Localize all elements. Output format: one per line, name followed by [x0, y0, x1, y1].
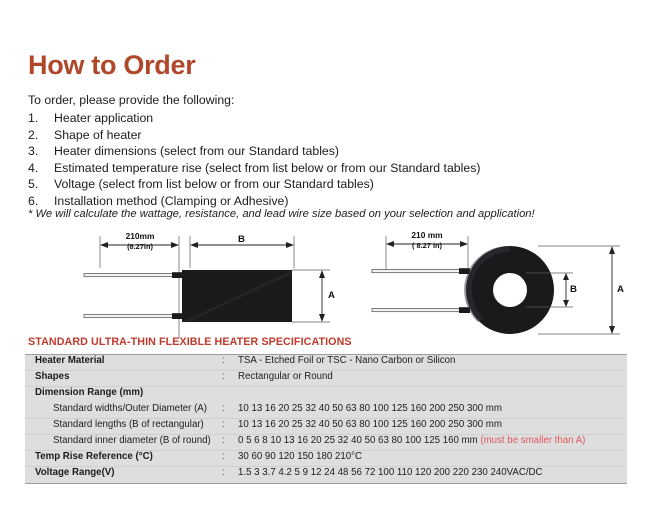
spec-row-value-text: Rectangular or Round: [238, 371, 333, 382]
order-step: 5.Voltage (select from list below or fro…: [28, 176, 628, 193]
spec-row-label: Shapes: [25, 371, 222, 382]
spec-row-value: 1.5 3 3.7 4.2 5 9 12 24 48 56 72 100 110…: [238, 467, 627, 478]
spec-row-value: 0 5 6 8 10 13 16 20 25 32 40 50 63 80 10…: [238, 435, 627, 446]
order-step: 3.Heater dimensions (select from our Sta…: [28, 143, 628, 160]
order-step-number: 1.: [28, 110, 54, 127]
order-step-text: Voltage (select from list below or from …: [54, 176, 374, 193]
spec-row: Standard lengths (B of rectangular):10 1…: [25, 419, 627, 435]
round-lead-length-mm: 210 mm: [411, 230, 442, 240]
spec-row-value-text: 1.5 3 3.7 4.2 5 9 12 24 48 56 72 100 110…: [238, 467, 543, 478]
round-lead-length-in: ( 8.27 in): [384, 241, 470, 251]
spec-row: Temp Rise Reference (°C):30 60 90 120 15…: [25, 451, 627, 467]
spec-row-colon: :: [222, 435, 238, 446]
spec-row: Voltage Range(V):1.5 3 3.7 4.2 5 9 12 24…: [25, 467, 627, 482]
figure-round-heater: 210 mm ( 8.27 in) B A: [358, 228, 643, 338]
figures-region: 210mm (8.27in) B A: [0, 228, 650, 338]
round-inner-diameter-letter: B: [570, 284, 577, 295]
order-step-text: Heater application: [54, 110, 153, 127]
order-step-number: 2.: [28, 127, 54, 144]
spec-row-value-text: 10 13 16 20 25 32 40 50 63 80 100 125 16…: [238, 419, 502, 430]
spec-row-note: (must be smaller than A): [480, 435, 585, 446]
spec-row: Standard inner diameter (B of round):0 5…: [25, 435, 627, 451]
spec-row-value: 30 60 90 120 150 180 210°C: [238, 451, 627, 462]
spec-row-value: TSA - Etched Foil or TSC - Nano Carbon o…: [238, 355, 627, 366]
rect-lead-length-mm: 210mm: [126, 231, 155, 241]
rect-width-letter: B: [238, 234, 245, 245]
spec-row-label: Heater Material: [25, 355, 222, 366]
spec-row-label: Standard inner diameter (B of round): [25, 435, 222, 446]
spec-row-value-text: 0 5 6 8 10 13 16 20 25 32 40 50 63 80 10…: [238, 435, 480, 446]
spec-row-label: Dimension Range (mm): [25, 387, 222, 398]
spec-row-colon: :: [222, 355, 238, 366]
spec-table: Heater Material:TSA - Etched Foil or TSC…: [25, 354, 627, 484]
order-step-text: Heater dimensions (select from our Stand…: [54, 143, 339, 160]
heater-inner-hole: [493, 273, 527, 307]
spec-row-colon: :: [222, 451, 238, 462]
order-step-text: Estimated temperature rise (select from …: [54, 160, 480, 177]
order-step-number: 4.: [28, 160, 54, 177]
spec-row: Heater Material:TSA - Etched Foil or TSC…: [25, 355, 627, 371]
spec-row-colon: :: [222, 467, 238, 478]
order-step-text: Shape of heater: [54, 127, 142, 144]
spec-row: Shapes:Rectangular or Round: [25, 371, 627, 387]
footnote: * We will calculate the wattage, resista…: [28, 208, 535, 220]
spec-row-value: 10 13 16 20 25 32 40 50 63 80 100 125 16…: [238, 403, 627, 414]
round-lead-length-label: 210 mm ( 8.27 in): [384, 231, 470, 250]
spec-row-value: 10 13 16 20 25 32 40 50 63 80 100 125 16…: [238, 419, 627, 430]
intro-text: To order, please provide the following:: [28, 93, 234, 107]
order-step: 1.Heater application: [28, 110, 628, 127]
order-step-number: 5.: [28, 176, 54, 193]
spec-row-colon: :: [222, 371, 238, 382]
spec-row-label: Temp Rise Reference (°C): [25, 451, 222, 462]
spec-row-label: Voltage Range(V): [25, 467, 222, 478]
figure-rectangular-heater: 210mm (8.27in) B A: [62, 228, 342, 338]
spec-row-colon: :: [222, 419, 238, 430]
order-step: 4.Estimated temperature rise (select fro…: [28, 160, 628, 177]
round-outer-diameter-letter: A: [617, 284, 624, 295]
order-step-number: 3.: [28, 143, 54, 160]
spec-row-value: Rectangular or Round: [238, 371, 627, 382]
spec-row: Dimension Range (mm): [25, 387, 627, 402]
lead-wires: [84, 272, 184, 319]
spec-row-value-text: 30 60 90 120 150 180 210°C: [238, 451, 362, 462]
order-step: 2.Shape of heater: [28, 127, 628, 144]
spec-row-colon: :: [222, 403, 238, 414]
spec-row-label: Standard lengths (B of rectangular): [25, 419, 222, 430]
lead-wires: [372, 268, 470, 313]
spec-row: Standard widths/Outer Diameter (A):10 13…: [25, 403, 627, 419]
spec-row-value-text: 10 13 16 20 25 32 40 50 63 80 100 125 16…: [238, 403, 502, 414]
spec-row-value-text: TSA - Etched Foil or TSC - Nano Carbon o…: [238, 355, 455, 366]
spec-row-label: Standard widths/Outer Diameter (A): [25, 403, 222, 414]
spec-table-heading: STANDARD ULTRA-THIN FLEXIBLE HEATER SPEC…: [28, 336, 352, 348]
order-steps-list: 1.Heater application2.Shape of heater3.H…: [28, 110, 628, 210]
rect-lead-length-label: 210mm (8.27in): [98, 232, 182, 251]
page-title: How to Order: [28, 52, 195, 79]
rect-lead-length-in: (8.27in): [98, 242, 182, 252]
rect-height-letter: A: [328, 290, 335, 301]
